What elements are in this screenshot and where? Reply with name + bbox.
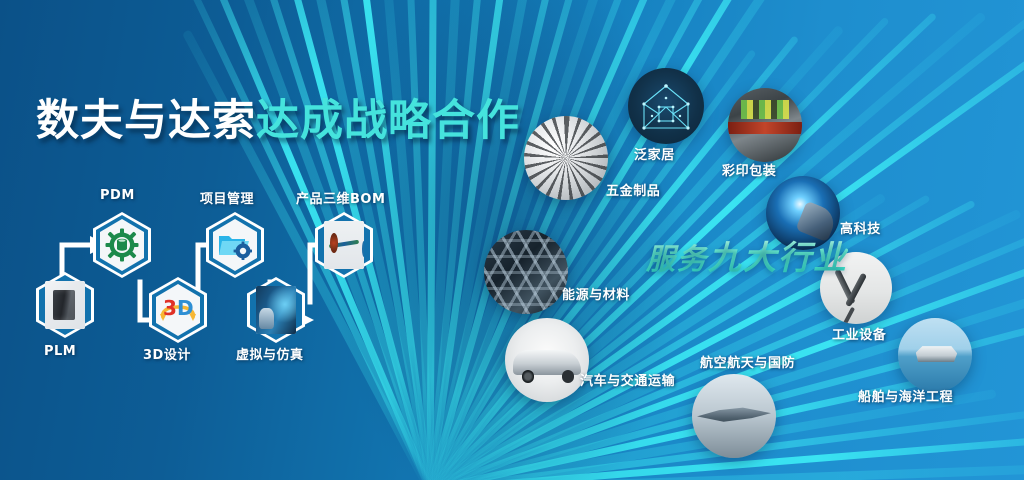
industry-label-automotive: 汽车与交通运输 [580,370,675,389]
plm-flow-diagram: PLM [0,0,440,400]
flow-node-pdm[interactable] [93,212,151,278]
smart-home-icon [628,68,704,144]
flow-node-simulation-label: 虚拟与仿真 [236,344,304,363]
naval-ship-icon [898,318,972,392]
industry-label-hardware: 五金制品 [606,180,660,199]
slogan-emphasis: 九大行业 [708,238,848,277]
server-tower-icon [45,281,85,329]
flow-node-3d[interactable]: 3 D [149,277,207,343]
printing-press-icon [728,88,802,162]
industry-circle-marine[interactable] [898,318,972,392]
industry-label-aerospace: 航空航天与国防 [700,352,795,371]
industry-circle-home[interactable] [628,68,704,144]
flow-node-plm[interactable] [36,272,94,338]
molecular-material-icon [484,230,568,314]
ray-line [430,462,1024,480]
flow-node-simulation[interactable] [247,277,305,343]
industry-label-equipment: 工业设备 [832,324,886,343]
hardware-parts-icon [524,116,608,200]
flow-node-pdm-label: PDM [100,188,135,203]
flow-node-bom[interactable] [315,212,373,278]
automobile-icon [505,318,589,402]
flow-node-3d-label: 3D设计 [143,344,191,363]
slogan-prefix: 服务 [646,242,708,276]
industries-slogan: 服务九大行业 [646,231,848,279]
flow-node-project-management-label: 项目管理 [200,188,254,207]
simulation-photo-icon [256,286,296,334]
cad-assembly-icon [324,221,364,269]
fighter-jet-icon [692,374,776,458]
flow-node-project-management[interactable] [206,212,264,278]
industry-label-energy: 能源与材料 [562,284,630,303]
industry-label-home: 泛家居 [634,144,675,163]
svg-text:3: 3 [163,296,177,320]
industry-circle-aerospace[interactable] [692,374,776,458]
industry-label-marine: 船舶与海洋工程 [858,386,953,405]
industry-circle-printing[interactable] [728,88,802,162]
promo-banner: 数夫与达索达成战略合作 [0,0,1024,480]
svg-text:D: D [177,296,194,320]
flow-node-bom-label: 产品三维BOM [296,188,385,207]
industry-circle-automotive[interactable] [505,318,589,402]
industry-circle-energy[interactable] [484,230,568,314]
industry-circle-hardware[interactable] [524,116,608,200]
flow-node-plm-label: PLM [44,344,76,359]
